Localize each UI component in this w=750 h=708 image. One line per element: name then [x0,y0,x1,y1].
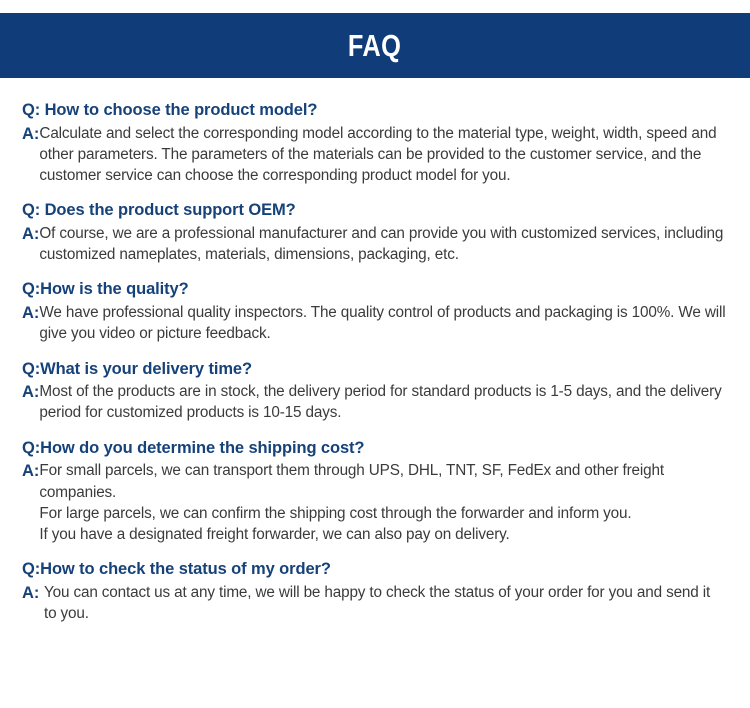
faq-answer-paragraph: For large parcels, we can confirm the sh… [39,503,726,524]
faq-page: FAQ Q: How to choose the product model?A… [0,0,750,708]
faq-question: Q: Does the product support OEM? [22,200,726,222]
faq-item: Q:How do you determine the shipping cost… [22,438,726,545]
faq-answer: A:Calculate and select the corresponding… [22,123,726,187]
faq-answer-paragraph: You can contact us at any time, we will … [44,582,726,624]
faq-item: Q:What is your delivery time?A:Most of t… [22,359,726,424]
faq-answer: A:Most of the products are in stock, the… [22,381,726,423]
faq-answer-marker: A: [22,223,39,246]
faq-question: Q: How to choose the product model? [22,100,726,122]
faq-answer-text: You can contact us at any time, we will … [44,582,726,624]
faq-question: Q:How do you determine the shipping cost… [22,438,726,460]
faq-answer-paragraph: Most of the products are in stock, the d… [39,381,726,423]
page-title: FAQ [348,30,401,61]
faq-answer: A:Of course, we are a professional manuf… [22,223,726,265]
faq-answer-paragraph: We have professional quality inspectors.… [39,302,726,344]
faq-answer-paragraph: For small parcels, we can transport them… [39,460,726,502]
faq-answer-marker: A: [22,123,39,146]
faq-answer-marker: A: [22,582,44,605]
faq-answer-text: For small parcels, we can transport them… [39,460,726,545]
faq-answer: A:We have professional quality inspector… [22,302,726,344]
faq-item: Q:How to check the status of my order?A:… [22,559,726,624]
faq-answer-text: We have professional quality inspectors.… [39,302,726,344]
faq-header-banner: FAQ [0,13,750,78]
faq-answer-text: Calculate and select the corresponding m… [39,123,726,187]
faq-item: Q: How to choose the product model?A:Cal… [22,100,726,186]
faq-answer: A:For small parcels, we can transport th… [22,460,726,545]
faq-question: Q:How is the quality? [22,279,726,301]
faq-answer-text: Most of the products are in stock, the d… [39,381,726,423]
faq-answer-paragraph: Calculate and select the corresponding m… [39,123,726,187]
faq-list: Q: How to choose the product model?A:Cal… [0,78,750,624]
faq-question: Q:What is your delivery time? [22,359,726,381]
faq-answer-paragraph: If you have a designated freight forward… [39,524,726,545]
faq-answer-text: Of course, we are a professional manufac… [39,223,726,265]
faq-question: Q:How to check the status of my order? [22,559,726,581]
faq-answer-paragraph: Of course, we are a professional manufac… [39,223,726,265]
faq-answer-marker: A: [22,381,39,404]
faq-item: Q: Does the product support OEM?A:Of cou… [22,200,726,265]
faq-item: Q:How is the quality?A:We have professio… [22,279,726,344]
faq-answer-marker: A: [22,302,39,325]
faq-answer: A: You can contact us at any time, we wi… [22,582,726,624]
faq-answer-marker: A: [22,460,39,483]
